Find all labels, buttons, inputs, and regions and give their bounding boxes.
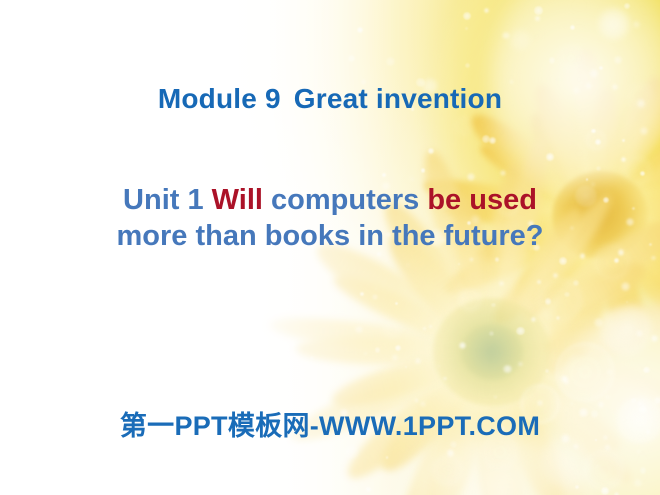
unit-label: Unit 1	[123, 184, 212, 216]
module-heading: Module 9Great invention	[0, 83, 660, 115]
unit-heading: Unit 1 Will computers be used more than …	[0, 182, 660, 254]
unit-heading-line-1: Unit 1 Will computers be used	[0, 182, 660, 218]
unit-text-computers: computers	[263, 184, 427, 216]
presentation-slide: Module 9Great invention Unit 1 Will comp…	[0, 0, 660, 495]
module-name: Great invention	[294, 83, 502, 114]
module-label: Module 9	[158, 83, 281, 114]
watermark-text: 第一PPT模板网-WWW.1PPT.COM	[0, 404, 660, 443]
unit-highlight-be-used: be used	[427, 184, 537, 216]
unit-highlight-will: Will	[212, 184, 263, 216]
slide-content: Module 9Great invention Unit 1 Will comp…	[0, 0, 660, 495]
unit-heading-line-2: more than books in the future?	[0, 218, 660, 254]
